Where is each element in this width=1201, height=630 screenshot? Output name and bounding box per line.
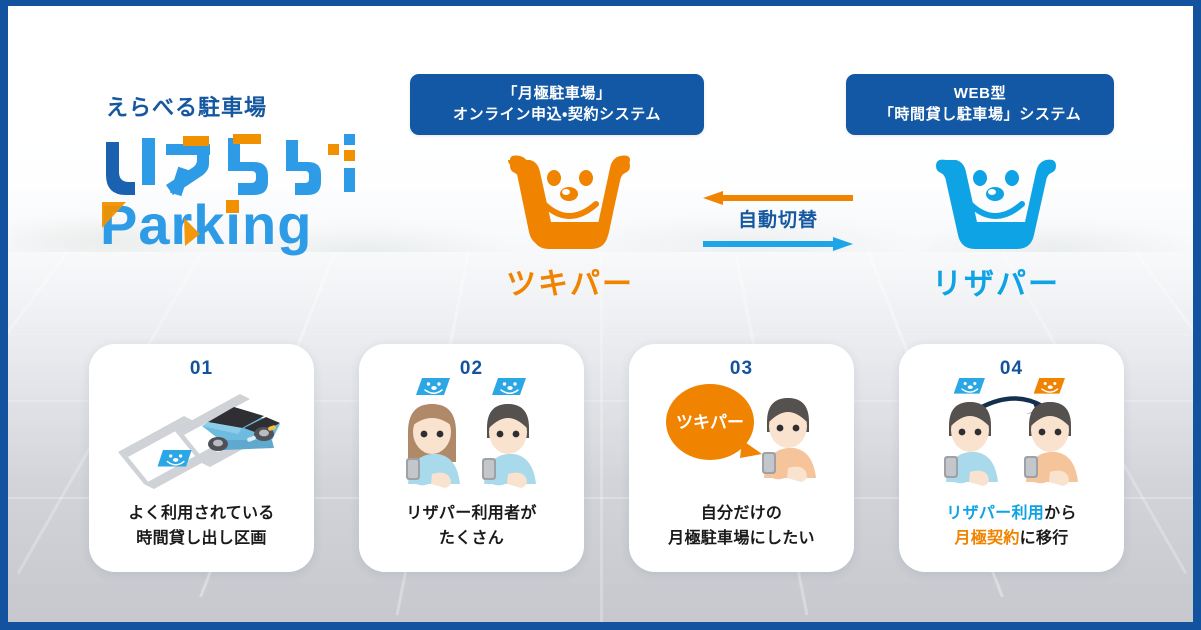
badge-line-2: オンライン申込・契約システム [426, 104, 688, 125]
badge-rizapa-system: WEB型 「時間貸し駐車場」システム [846, 74, 1114, 135]
rizapa-mascot-icon [916, 237, 1076, 254]
page-tagline: えらべる駐車場 [106, 90, 267, 122]
logo-ierabu-glyphs [106, 134, 355, 196]
tsukipa-speech-bubble: ツキパー [666, 384, 762, 460]
card-caption-line-1: よく利用されている [97, 502, 306, 527]
card-caption-part-4: に移行 [1020, 530, 1069, 547]
card-caption-line-2: 時間貸し出し区画 [97, 527, 306, 552]
card-step-03[interactable]: 03 ツキパー [629, 344, 854, 572]
two-people-with-phones-icon [359, 378, 584, 500]
isometric-parking-car-icon [89, 378, 314, 500]
card-step-01[interactable]: 01 [89, 344, 314, 572]
card-caption-part-3: 月極契約 [954, 530, 1019, 547]
badge-line-1: WEB型 [862, 83, 1098, 104]
arrow-right-icon [703, 237, 853, 251]
card-number: 01 [89, 358, 314, 380]
svg-text:ツキパー: ツキパー [676, 413, 744, 432]
screenshot-frame: えらべる駐車場 [0, 0, 1201, 630]
card-step-02[interactable]: 02 [359, 344, 584, 572]
card-caption-line-2: 月極契約に移行 [907, 527, 1116, 552]
auto-switch-label: 自動切替 [693, 205, 863, 237]
card-caption: 自分だけの 月極駐車場にしたい [637, 502, 846, 552]
card-step-04[interactable]: 04 [899, 344, 1124, 572]
svg-text:Parking: Parking [100, 193, 312, 256]
transition-two-people-icon [899, 378, 1124, 500]
card-caption-part-2: から [1044, 505, 1077, 522]
mascot-rizapa: リザパー [896, 154, 1096, 303]
card-caption: よく利用されている 時間貸し出し区画 [97, 502, 306, 552]
card-caption-line-1: 自分だけの [637, 502, 846, 527]
card-caption-part-1: リザパー利用 [946, 505, 1044, 522]
card-number: 02 [359, 358, 584, 380]
card-caption: リザパー利用から 月極契約に移行 [907, 502, 1116, 552]
tsukipa-mascot-label: ツキパー [470, 259, 670, 303]
arrow-left-icon [703, 191, 853, 205]
brand-logo: Parking [100, 134, 380, 264]
card-number: 03 [629, 358, 854, 380]
card-caption-line-1: リザパー利用者が [367, 502, 576, 527]
card-caption-line-1: リザパー利用から [907, 502, 1116, 527]
card-caption-line-2: 月極駐車場にしたい [637, 527, 846, 552]
person-with-tsukipa-bubble-icon: ツキパー [629, 378, 854, 500]
card-caption: リザパー利用者が たくさん [367, 502, 576, 552]
mascot-tsukipa: ツキパー [470, 154, 670, 303]
auto-switch-indicator: 自動切替 [693, 191, 863, 251]
poster-canvas: えらべる駐車場 [8, 6, 1193, 622]
logo-parking-text: Parking [100, 193, 312, 256]
badge-tsukipa-system: 「月極駐車場」 オンライン申込・契約システム [410, 74, 704, 135]
card-number: 04 [899, 358, 1124, 380]
card-caption-line-2: たくさん [367, 527, 576, 552]
tsukipa-mascot-icon [490, 237, 650, 254]
badge-line-2: 「時間貸し駐車場」システム [862, 104, 1098, 125]
rizapa-mascot-label: リザパー [896, 259, 1096, 303]
badge-line-1: 「月極駐車場」 [426, 83, 688, 104]
